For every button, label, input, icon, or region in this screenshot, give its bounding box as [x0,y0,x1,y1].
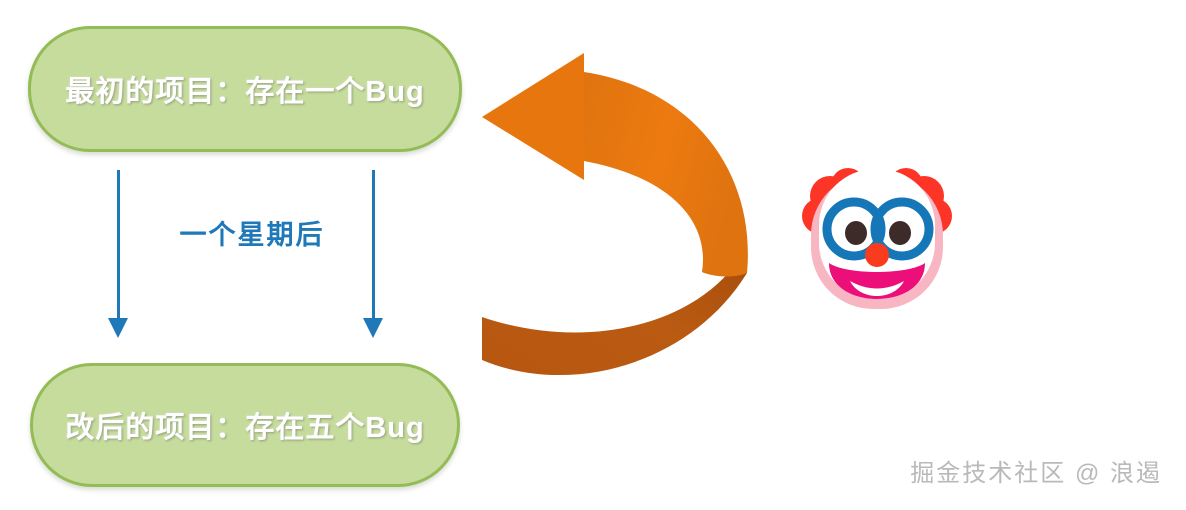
diagram-canvas: 最初的项目：存在一个Bug 改后的项目：存在五个Bug 一个星期后 [0,0,1186,510]
stage-box-initial-project-label: 最初的项目：存在一个Bug [65,68,424,110]
down-arrow-right-head [363,318,383,338]
watermark-text: 掘金技术社区 @ 浪遏 [910,453,1162,488]
loop-arrow-head [482,53,584,180]
loop-arrow-upper-band [584,72,748,277]
clown-eye-right [889,221,911,245]
curved-loop-arrow-icon [460,25,770,450]
down-arrow-left-head [108,318,128,338]
stage-box-revised-project: 改后的项目：存在五个Bug [30,363,460,487]
down-arrow-right-icon [363,170,383,340]
clown-eye-left [845,221,867,245]
clown-nose [865,243,889,267]
stage-box-revised-project-label: 改后的项目：存在五个Bug [65,404,424,446]
down-arrow-left-shaft [117,170,120,320]
down-arrow-right-shaft [372,170,375,320]
interval-label: 一个星期后 [168,213,336,252]
down-arrow-left-icon [108,170,128,340]
clown-face-icon [798,163,956,317]
stage-box-initial-project: 最初的项目：存在一个Bug [28,26,462,152]
